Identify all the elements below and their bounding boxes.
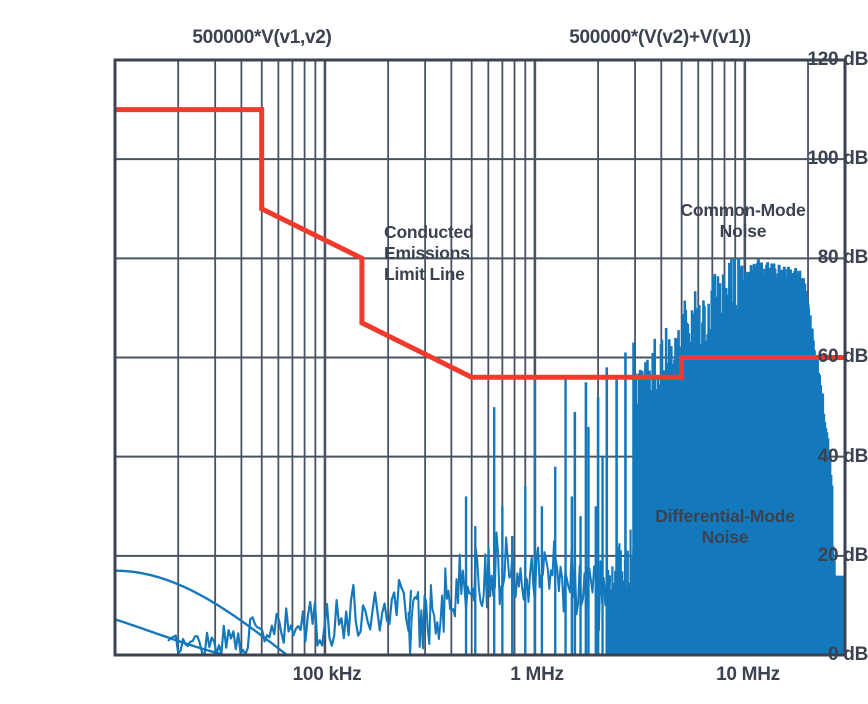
y-axis-tick-40db: 40 dB xyxy=(760,446,868,468)
annotation-limit-line: Conducted Emissions Limit Line xyxy=(384,222,474,285)
x-axis-tick-10mhz: 10 MHz xyxy=(716,664,780,686)
y-axis-tick-20db: 20 dB xyxy=(760,545,868,567)
y-axis-tick-80db: 80 dB xyxy=(760,247,868,269)
plot-area xyxy=(0,0,868,704)
y-axis-tick-100db: 100 dB xyxy=(760,148,868,170)
series-title-differential: 500000*V(v1,v2) xyxy=(152,27,372,49)
y-axis-tick-120db: 120 dB xyxy=(760,49,868,71)
annotation-common-mode-noise: Common-Mode Noise xyxy=(648,200,838,242)
y-axis-tick-0db: 0 dB xyxy=(760,644,868,666)
y-axis-tick-60db: 60 dB xyxy=(760,346,868,368)
series-title-common-mode: 500000*(V(v2)+V(v1)) xyxy=(520,27,800,49)
annotation-differential-mode-noise: Differential-Mode Noise xyxy=(610,506,840,548)
x-axis-tick-100khz: 100 kHz xyxy=(293,664,362,686)
x-axis-tick-1mhz: 1 MHz xyxy=(510,664,563,686)
conducted-emissions-chart: 500000*V(v1,v2) 500000*(V(v2)+V(v1)) 120… xyxy=(0,0,868,704)
